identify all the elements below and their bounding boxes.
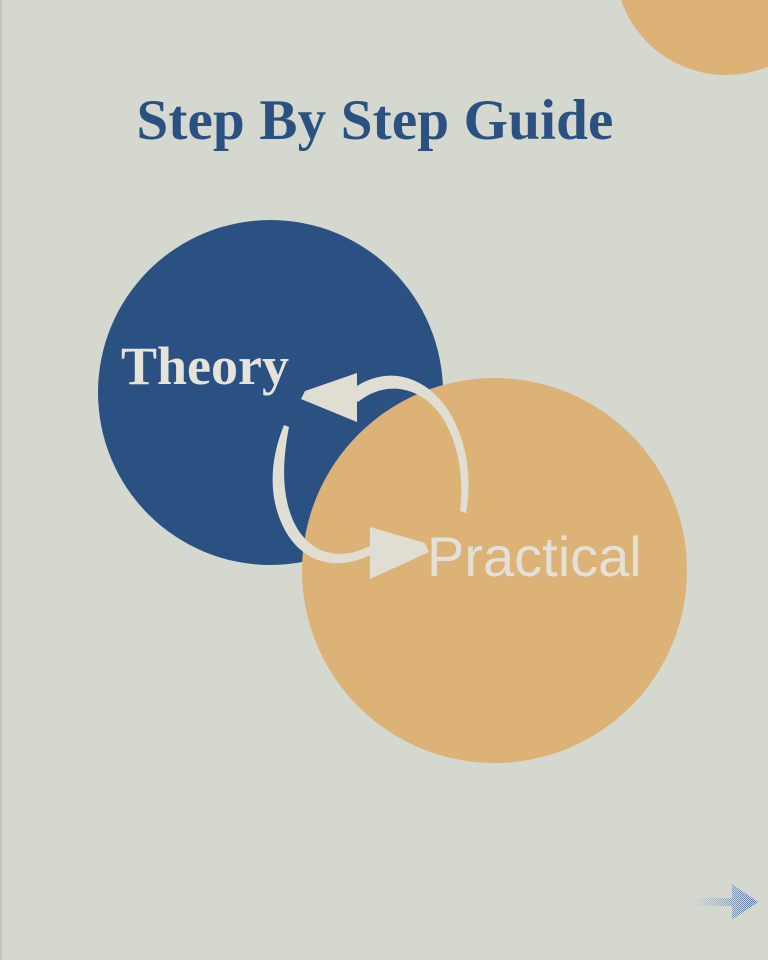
arrow-theory-to-practical: [273, 425, 429, 579]
tan-corner-circle: [615, 0, 768, 75]
page-title: Step By Step Guide: [2, 88, 768, 153]
practical-label: Practical: [427, 529, 642, 585]
next-arrow-icon[interactable]: [692, 876, 760, 928]
slide-canvas: Step By Step Guide Theory Practical: [0, 0, 768, 960]
arrow-practical-to-theory: [301, 373, 469, 513]
